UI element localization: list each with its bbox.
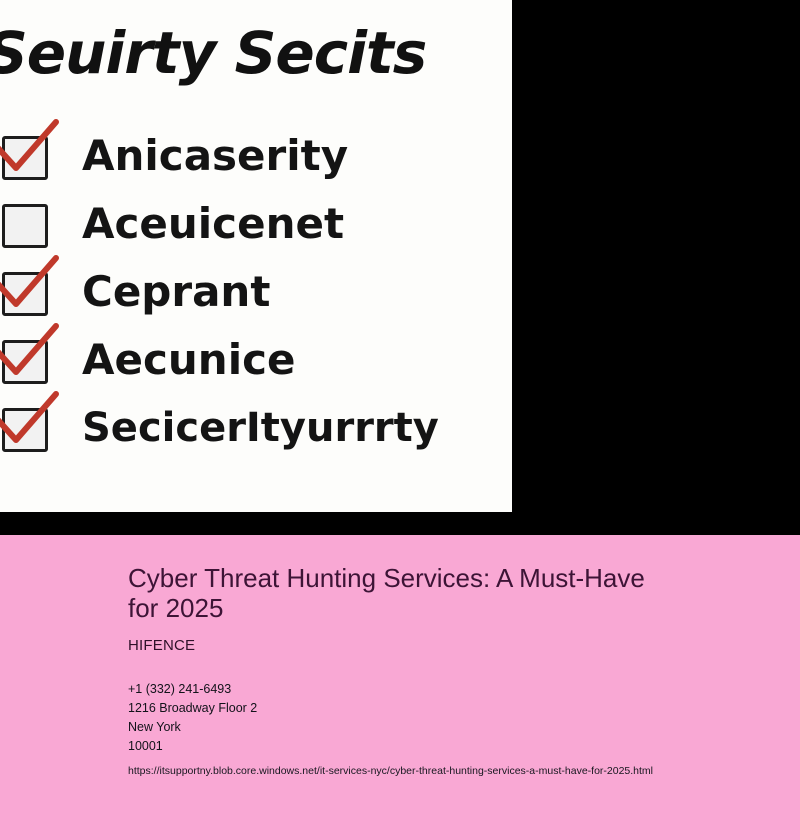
hero-image: Seuirty Secits Anicaserity Aceuicenet: [0, 0, 800, 535]
source-url: https://itsupportny.blob.core.windows.ne…: [128, 764, 778, 778]
list-item: Aceuicenet: [0, 196, 512, 264]
checkbox-box: [2, 204, 48, 248]
list-item-label: SecicerItyurrrty: [82, 400, 439, 456]
check-icon: [0, 322, 60, 380]
list-item-label: Aecunice: [82, 332, 295, 388]
list-item-label: Aceuicenet: [82, 196, 344, 252]
info-content: Cyber Threat Hunting Services: A Must-Ha…: [128, 563, 778, 778]
hero-whiteboard: Seuirty Secits Anicaserity Aceuicenet: [0, 0, 512, 512]
address-line: 1216 Broadway Floor 2: [128, 699, 778, 718]
info-panel: Cyber Threat Hunting Services: A Must-Ha…: [0, 535, 800, 840]
contact-block: +1 (332) 241-6493 1216 Broadway Floor 2 …: [128, 680, 778, 756]
check-icon: [0, 390, 60, 448]
list-item: Aecunice: [0, 332, 512, 400]
phone-number: +1 (332) 241-6493: [128, 680, 778, 699]
list-item-label: Anicaserity: [82, 128, 348, 184]
city-name: New York: [128, 718, 778, 737]
page-root: Seuirty Secits Anicaserity Aceuicenet: [0, 0, 800, 840]
brand-name: HIFENCE: [128, 637, 778, 654]
list-item: Anicaserity: [0, 128, 512, 196]
check-icon: [0, 254, 60, 312]
zip-code: 10001: [128, 737, 778, 756]
hero-headline: Seuirty Secits: [0, 22, 512, 84]
list-item: Ceprant: [0, 264, 512, 332]
hero-checklist: Anicaserity Aceuicenet Ceprant: [0, 128, 512, 468]
check-icon: [0, 118, 60, 176]
page-title: Cyber Threat Hunting Services: A Must-Ha…: [128, 563, 648, 623]
list-item-label: Ceprant: [82, 264, 270, 320]
list-item: SecicerItyurrrty: [0, 400, 512, 468]
